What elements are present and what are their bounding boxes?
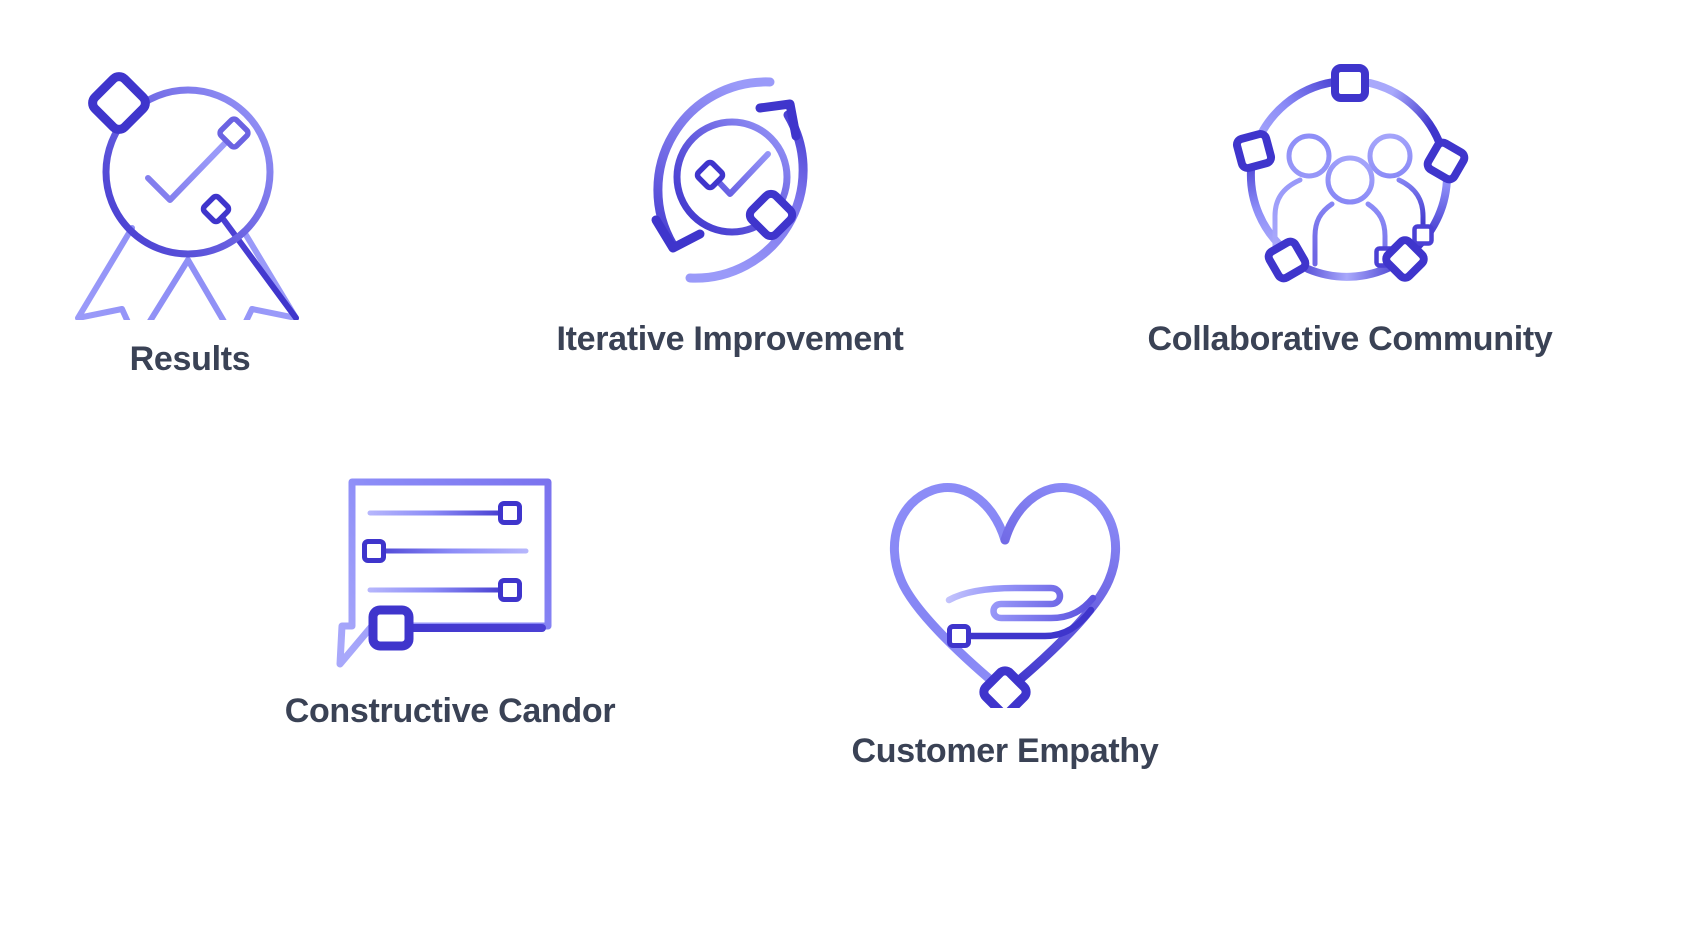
values-grid: Results: [0, 0, 1696, 950]
value-label-iterative-improvement: Iterative Improvement: [556, 320, 903, 359]
value-card-collaborative-community: Collaborative Community: [1040, 60, 1660, 359]
value-label-customer-empathy: Customer Empathy: [852, 732, 1159, 771]
value-card-customer-empathy: Customer Empathy: [790, 468, 1220, 771]
value-card-results: Results: [0, 60, 380, 379]
value-label-collaborative-community: Collaborative Community: [1148, 320, 1553, 359]
cycle-arrows-checkmark-icon: [610, 60, 850, 300]
speech-bubble-sliders-icon: [330, 468, 570, 668]
value-label-constructive-candor: Constructive Candor: [285, 692, 616, 731]
value-card-constructive-candor: Constructive Candor: [240, 468, 660, 731]
value-card-iterative-improvement: Iterative Improvement: [450, 60, 1010, 359]
award-ribbon-icon: [60, 60, 320, 320]
people-network-circle-icon: [1230, 60, 1470, 300]
value-label-results: Results: [130, 340, 251, 379]
heart-hand-icon: [875, 468, 1135, 708]
